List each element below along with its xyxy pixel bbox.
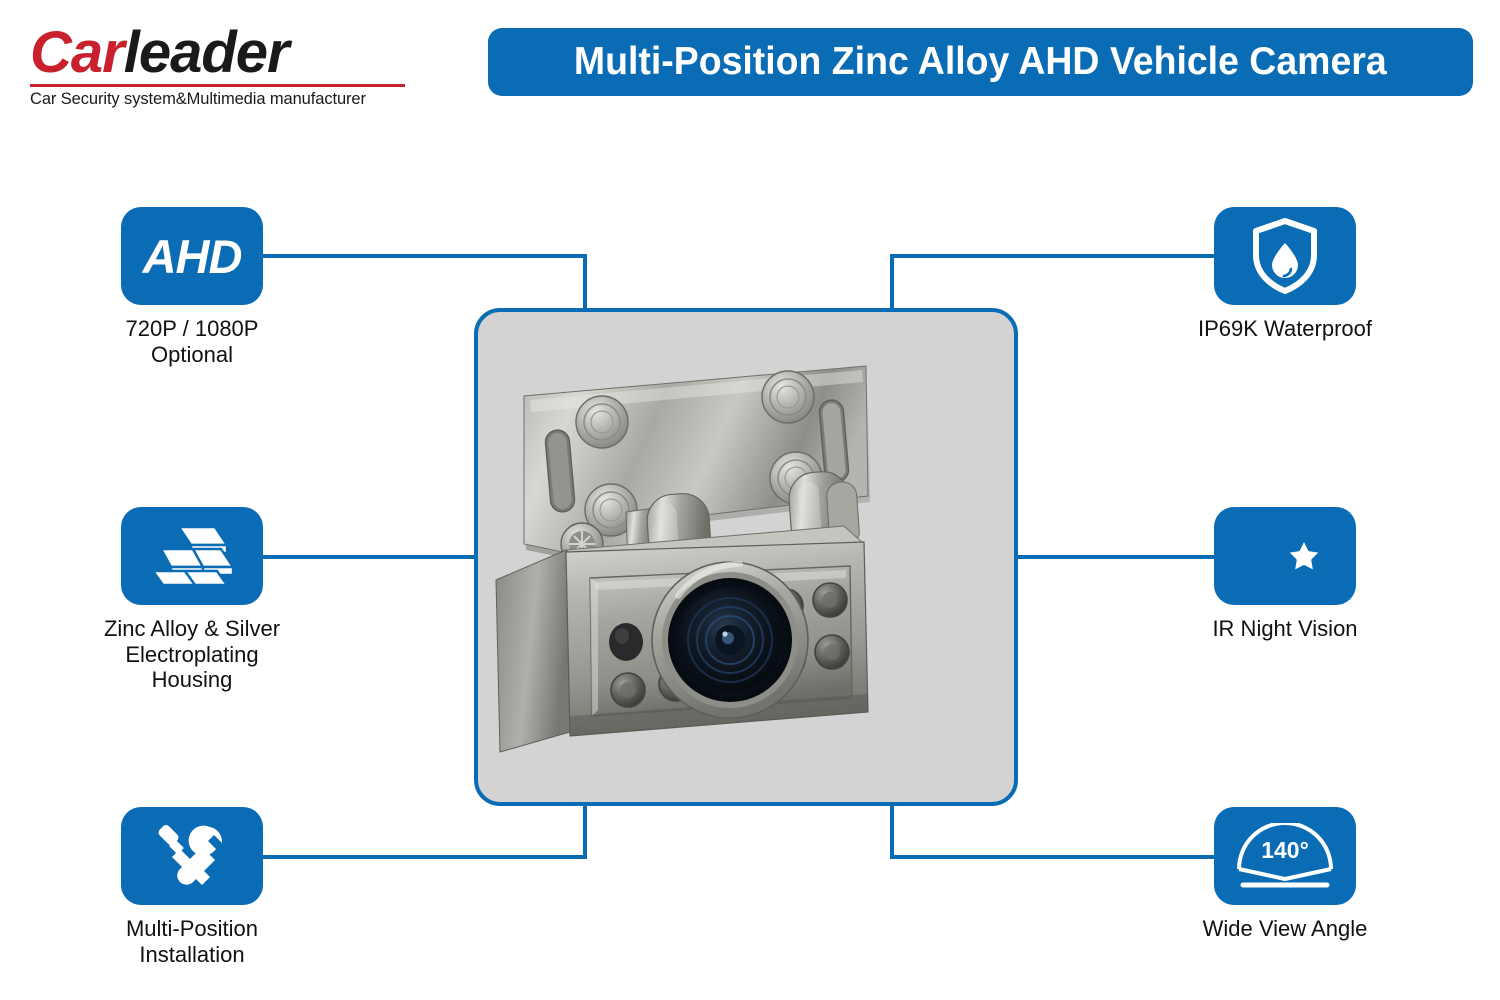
connector-top-right-vertical — [890, 254, 894, 312]
connector-bottom-left-vertical — [583, 800, 587, 859]
feature-label-ahd: 720P / 1080P Optional — [126, 316, 259, 367]
feature-multi-position-install[interactable]: Multi-Position Installation — [57, 807, 327, 967]
connector-top-left-vertical — [583, 254, 587, 312]
view-angle-icon: 140° — [1214, 807, 1356, 905]
feature-label-waterproof: IP69K Waterproof — [1198, 316, 1372, 342]
camera-body — [496, 526, 868, 752]
feature-zinc-alloy[interactable]: Zinc Alloy & Silver Electroplating Housi… — [57, 507, 327, 693]
camera-illustration — [478, 312, 1014, 802]
feature-wide-view-angle[interactable]: 140° Wide View Angle — [1150, 807, 1420, 942]
wrench-screwdriver-glyph — [154, 819, 230, 893]
infographic-root: Carleader Car Security system&Multimedia… — [0, 0, 1500, 1000]
moon-star-glyph — [1247, 520, 1323, 592]
brand-word-car: Car — [30, 20, 124, 85]
ahd-badge-icon: AHD — [121, 207, 263, 305]
product-photo — [478, 312, 1014, 802]
feature-ahd-resolution[interactable]: AHD 720P / 1080P Optional — [57, 207, 327, 367]
feature-ir-night-vision[interactable]: IR Night Vision — [1150, 507, 1420, 642]
brand-logo: Carleader Car Security system&Multimedia… — [30, 24, 450, 109]
wrench-screwdriver-icon — [121, 807, 263, 905]
brand-word-leader: leader — [124, 20, 289, 85]
shield-waterdrop-icon — [1214, 207, 1356, 305]
connector-bottom-right-vertical — [890, 800, 894, 859]
feature-label-angle: Wide View Angle — [1203, 916, 1368, 942]
metal-ingots-glyph — [149, 523, 235, 589]
product-image-frame — [474, 308, 1018, 806]
page-title: Multi-Position Zinc Alloy AHD Vehicle Ca… — [574, 40, 1387, 84]
camera-lens — [652, 562, 808, 718]
brand-wordmark: Carleader — [30, 24, 450, 82]
feature-label-zinc: Zinc Alloy & Silver Electroplating Housi… — [104, 616, 280, 693]
feature-waterproof[interactable]: IP69K Waterproof — [1150, 207, 1420, 342]
feature-label-install: Multi-Position Installation — [126, 916, 258, 967]
brand-tagline: Car Security system&Multimedia manufactu… — [30, 90, 450, 109]
moon-star-icon — [1214, 507, 1356, 605]
view-angle-value: 140° — [1261, 837, 1309, 864]
metal-ingots-icon — [121, 507, 263, 605]
ahd-badge-label: AHD — [143, 229, 242, 284]
feature-label-night: IR Night Vision — [1212, 616, 1357, 642]
shield-waterdrop-glyph — [1250, 217, 1320, 295]
title-banner: Multi-Position Zinc Alloy AHD Vehicle Ca… — [488, 28, 1473, 96]
